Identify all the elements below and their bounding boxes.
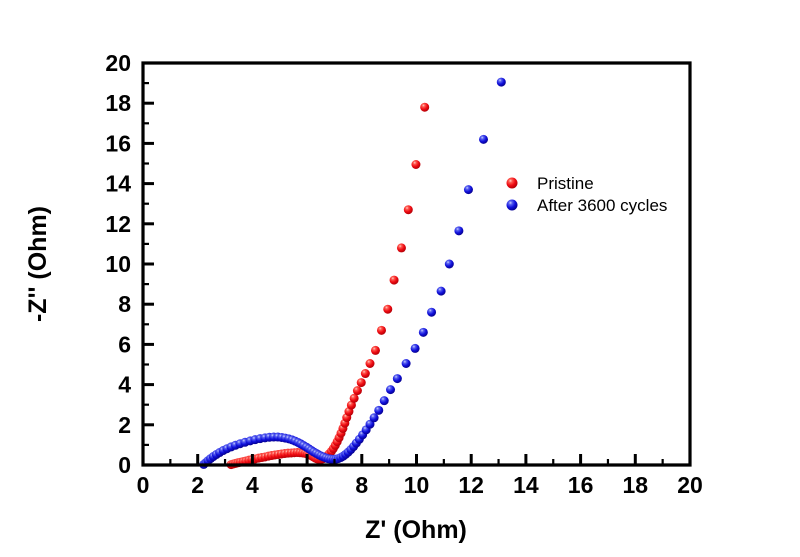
x-tick-label: 6 — [301, 472, 314, 498]
x-tick-label: 4 — [246, 472, 259, 498]
x-tick-label: 8 — [355, 472, 368, 498]
data-point — [357, 378, 366, 387]
data-point — [411, 344, 420, 353]
y-tick-label: 18 — [105, 90, 131, 116]
data-point — [361, 369, 370, 378]
plot-frame — [143, 63, 690, 465]
data-series-layer — [199, 78, 506, 470]
x-axis-title: Z' (Ohm) — [365, 516, 467, 544]
data-point — [386, 385, 395, 394]
y-tick-label: 2 — [118, 412, 131, 438]
y-tick-label: 10 — [105, 251, 131, 277]
axis-tick-labels-layer: 0246810121416182002468101214161820 — [105, 50, 702, 498]
chart-legend: PristineAfter 3600 cycles — [507, 174, 668, 215]
nyquist-plot-figure: 0246810121416182002468101214161820 Prist… — [0, 0, 800, 557]
data-point — [390, 276, 399, 285]
data-point — [404, 205, 413, 214]
data-point — [445, 260, 454, 269]
data-point — [437, 287, 446, 296]
data-point — [393, 374, 402, 383]
y-tick-label: 4 — [118, 372, 131, 398]
data-point — [479, 135, 488, 144]
data-point — [353, 386, 362, 395]
data-point — [366, 359, 375, 368]
data-point — [464, 185, 473, 194]
data-point — [380, 396, 389, 405]
legend-label-after-cycles: After 3600 cycles — [537, 196, 667, 215]
axis-ticks-layer — [143, 63, 690, 465]
data-point — [370, 413, 379, 422]
data-point — [383, 305, 392, 314]
legend-marker-after-cycles — [507, 200, 518, 211]
y-tick-label: 14 — [105, 171, 131, 197]
y-tick-label: 20 — [105, 50, 131, 76]
x-tick-label: 16 — [568, 472, 594, 498]
y-tick-label: 8 — [118, 291, 131, 317]
data-point — [497, 78, 506, 87]
data-point — [377, 326, 386, 335]
data-point — [371, 346, 380, 355]
series-pristine — [227, 103, 430, 469]
data-point — [419, 328, 428, 337]
y-tick-label: 0 — [118, 452, 131, 478]
x-tick-label: 12 — [458, 472, 484, 498]
y-axis-title: -Z'' (Ohm) — [24, 206, 52, 322]
x-tick-label: 14 — [513, 472, 539, 498]
x-tick-label: 10 — [404, 472, 430, 498]
data-point — [454, 226, 463, 235]
chart-canvas: 0246810121416182002468101214161820 Prist… — [0, 0, 800, 557]
y-tick-label: 12 — [105, 211, 131, 237]
data-point — [427, 308, 436, 317]
y-tick-label: 6 — [118, 331, 131, 357]
data-point — [374, 406, 383, 415]
data-point — [420, 103, 429, 112]
axis-frame-layer — [143, 63, 690, 465]
x-tick-label: 18 — [623, 472, 649, 498]
y-tick-label: 16 — [105, 130, 131, 156]
data-point — [402, 359, 411, 368]
legend-label-pristine: Pristine — [537, 174, 594, 193]
x-tick-label: 20 — [677, 472, 703, 498]
data-point — [397, 243, 406, 252]
x-tick-label: 0 — [137, 472, 150, 498]
legend-marker-pristine — [507, 178, 518, 189]
x-tick-label: 2 — [191, 472, 204, 498]
data-point — [411, 160, 420, 169]
